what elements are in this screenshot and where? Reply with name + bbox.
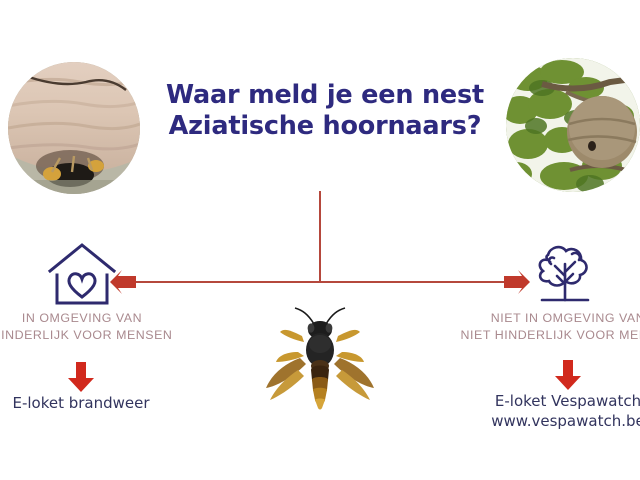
result-right-line-1: E-loket Vespawatch [491,391,640,411]
arrow-right-icon [504,270,530,294]
arrow-down-icon-left [68,362,94,392]
asian-hornet-photo [262,306,378,410]
horizontal-connector-line [130,281,510,283]
result-right-label[interactable]: E-loket Vespawatch www.vespawatch.be [491,391,640,432]
title-line-2: Aziatische hoornaars? [150,111,500,142]
nest-closeup-photo [8,62,140,194]
branch-right-caption-line-2: NIET HINDERLIJK VOOR MENSEN [461,327,640,344]
page-title: Waar meld je een nest Aziatische hoornaa… [150,80,500,142]
house-with-heart-icon [45,241,119,311]
branch-right-caption: NIET IN OMGEVING VAN NIET HINDERLIJK VOO… [461,310,640,343]
result-left-label[interactable]: E-loket brandweer [12,393,149,413]
tree-icon [528,238,602,308]
arrow-down-icon-right [555,360,581,390]
title-line-1: Waar meld je een nest [166,80,484,110]
branch-left-caption: IN OMGEVING VAN HINDERLIJK VOOR MENSEN [0,310,172,343]
nest-in-tree-photo [506,58,640,192]
branch-left-caption-line-1: IN OMGEVING VAN [0,310,172,327]
branch-right-caption-line-1: NIET IN OMGEVING VAN [461,310,640,327]
result-right-url[interactable]: www.vespawatch.be [491,411,640,431]
infographic-canvas: Waar meld je een nest Aziatische hoornaa… [0,0,640,480]
result-left-line-1: E-loket brandweer [12,393,149,413]
vertical-connector-line [319,191,321,282]
branch-left-caption-line-2: HINDERLIJK VOOR MENSEN [0,327,172,344]
